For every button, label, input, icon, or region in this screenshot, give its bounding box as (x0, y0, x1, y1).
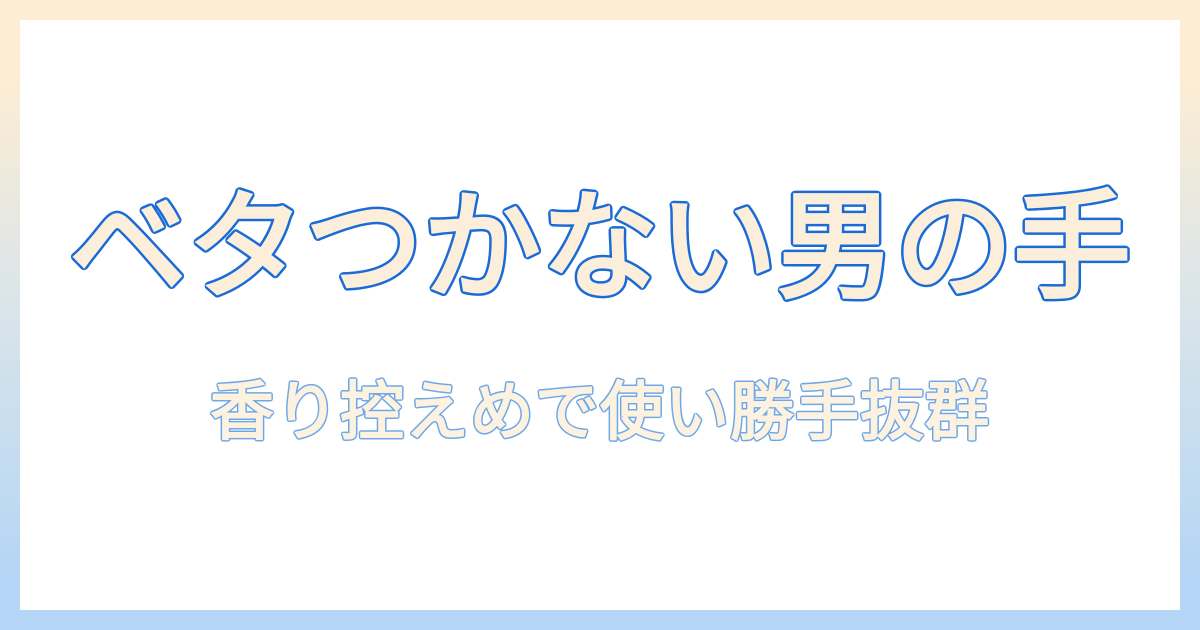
page-subtitle: 香り控えめで使い勝手抜群 (210, 376, 990, 450)
subtitle-graphic: 香り控えめで使い勝手抜群 (20, 366, 1180, 458)
title-row: ベタつかない男の手 (20, 170, 1180, 320)
title-graphic: ベタつかない男の手 (20, 165, 1180, 325)
poster-frame: ベタつかない男の手 香り控えめで使い勝手抜群 (0, 0, 1200, 630)
poster-card: ベタつかない男の手 香り控えめで使い勝手抜群 (20, 20, 1180, 610)
subtitle-row: 香り控えめで使い勝手抜群 (20, 366, 1180, 458)
page-title: ベタつかない男の手 (69, 178, 1131, 316)
text-stack: ベタつかない男の手 香り控えめで使い勝手抜群 (20, 20, 1180, 610)
